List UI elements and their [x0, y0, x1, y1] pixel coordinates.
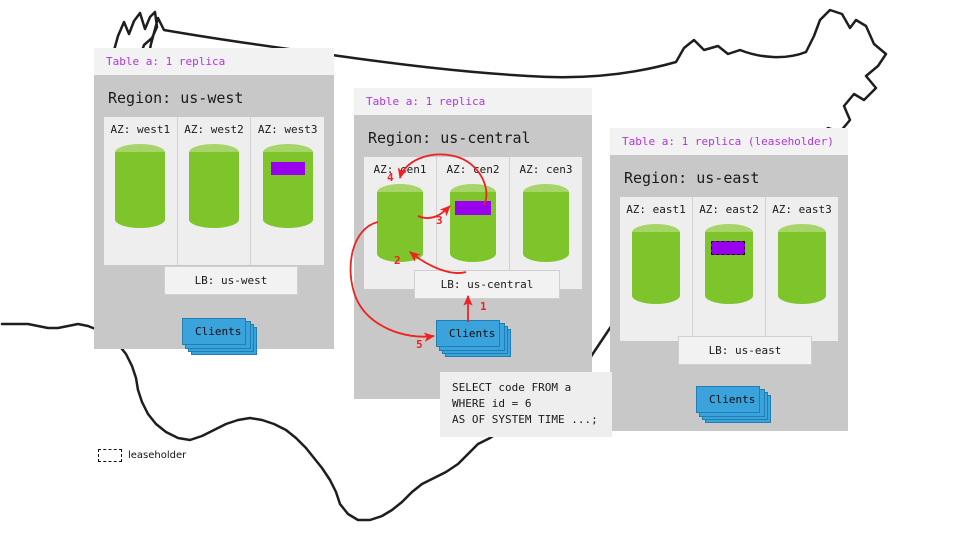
clients-us-east[interactable]: Clients [696, 386, 762, 413]
load-balancer-us-west[interactable]: LB: us-west [164, 266, 298, 295]
region-header-us-east: Table a: 1 replica (leaseholder) [610, 128, 848, 155]
node-cylinder-west3[interactable] [263, 144, 313, 228]
az-label-east3: AZ: east3 [772, 203, 832, 216]
clients-us-central[interactable]: Clients [436, 320, 502, 347]
cylinder-bottom-icon [115, 211, 165, 228]
az-west1[interactable]: AZ: west1 [104, 117, 178, 265]
az-east1[interactable]: AZ: east1 [620, 197, 693, 341]
az-label-east1: AZ: east1 [626, 203, 686, 216]
az-row-us-east: AZ: east1 AZ: east2 [620, 197, 838, 341]
node-cylinder-cen1[interactable] [377, 184, 423, 262]
az-label-cen3: AZ: cen3 [520, 163, 573, 176]
az-label-cen1: AZ: cen1 [374, 163, 427, 176]
load-balancer-us-east[interactable]: LB: us-east [678, 336, 812, 365]
az-label-east2: AZ: east2 [699, 203, 759, 216]
az-row-us-west: AZ: west1 AZ: west2 AZ [104, 117, 324, 265]
az-label-west2: AZ: west2 [184, 123, 244, 136]
node-cylinder-west1[interactable] [115, 144, 165, 228]
az-east2[interactable]: AZ: east2 [693, 197, 766, 341]
cylinder-bottom-icon [450, 245, 496, 262]
region-panel-us-east: Table a: 1 replica (leaseholder) Region:… [610, 128, 848, 431]
legend-label: leaseholder [128, 450, 186, 461]
region-header-us-central: Table a: 1 replica [354, 88, 592, 115]
node-cylinder-east2[interactable] [705, 224, 753, 304]
cylinder-side-icon [115, 152, 165, 220]
node-cylinder-west2[interactable] [189, 144, 239, 228]
az-label-west1: AZ: west1 [111, 123, 171, 136]
node-cylinder-cen3[interactable] [523, 184, 569, 262]
load-balancer-us-central[interactable]: LB: us-central [414, 270, 560, 299]
cylinder-bottom-icon [377, 245, 423, 262]
replica-cen2[interactable] [455, 201, 491, 215]
sql-query-box: SELECT code FROM a WHERE id = 6 AS OF SY… [440, 372, 612, 437]
dashed-rect-icon [98, 449, 122, 462]
node-cylinder-cen2[interactable] [450, 184, 496, 262]
cylinder-bottom-icon [705, 287, 753, 304]
clients-label-us-east[interactable]: Clients [696, 386, 760, 413]
az-label-cen2: AZ: cen2 [447, 163, 500, 176]
az-east3[interactable]: AZ: east3 [766, 197, 838, 341]
cylinder-bottom-icon [189, 211, 239, 228]
region-body-us-west: Region: us-west AZ: west1 AZ: west2 [94, 75, 334, 349]
az-label-west3: AZ: west3 [258, 123, 318, 136]
node-cylinder-east1[interactable] [632, 224, 680, 304]
clients-us-west[interactable]: Clients [182, 318, 248, 345]
region-title-us-central: Region: us-central [368, 129, 582, 147]
az-west2[interactable]: AZ: west2 [178, 117, 252, 265]
region-title-us-west: Region: us-west [108, 89, 324, 107]
legend-leaseholder: leaseholder [98, 449, 186, 462]
region-panel-us-central: Table a: 1 replica Region: us-central AZ… [354, 88, 592, 399]
replica-west3[interactable] [271, 162, 305, 175]
az-west3[interactable]: AZ: west3 [251, 117, 324, 265]
cylinder-bottom-icon [632, 287, 680, 304]
cylinder-bottom-icon [523, 245, 569, 262]
clients-label-us-west[interactable]: Clients [182, 318, 246, 345]
region-panel-us-west: Table a: 1 replica Region: us-west AZ: w… [94, 48, 334, 349]
cylinder-bottom-icon [263, 211, 313, 228]
diagram-stage: Table a: 1 replica Region: us-west AZ: w… [0, 0, 960, 540]
region-header-us-west: Table a: 1 replica [94, 48, 334, 75]
node-cylinder-east3[interactable] [778, 224, 826, 304]
clients-label-us-central[interactable]: Clients [436, 320, 500, 347]
region-title-us-east: Region: us-east [624, 169, 838, 187]
cylinder-bottom-icon [778, 287, 826, 304]
cylinder-side-icon [189, 152, 239, 220]
replica-east2-leaseholder[interactable] [711, 241, 745, 255]
